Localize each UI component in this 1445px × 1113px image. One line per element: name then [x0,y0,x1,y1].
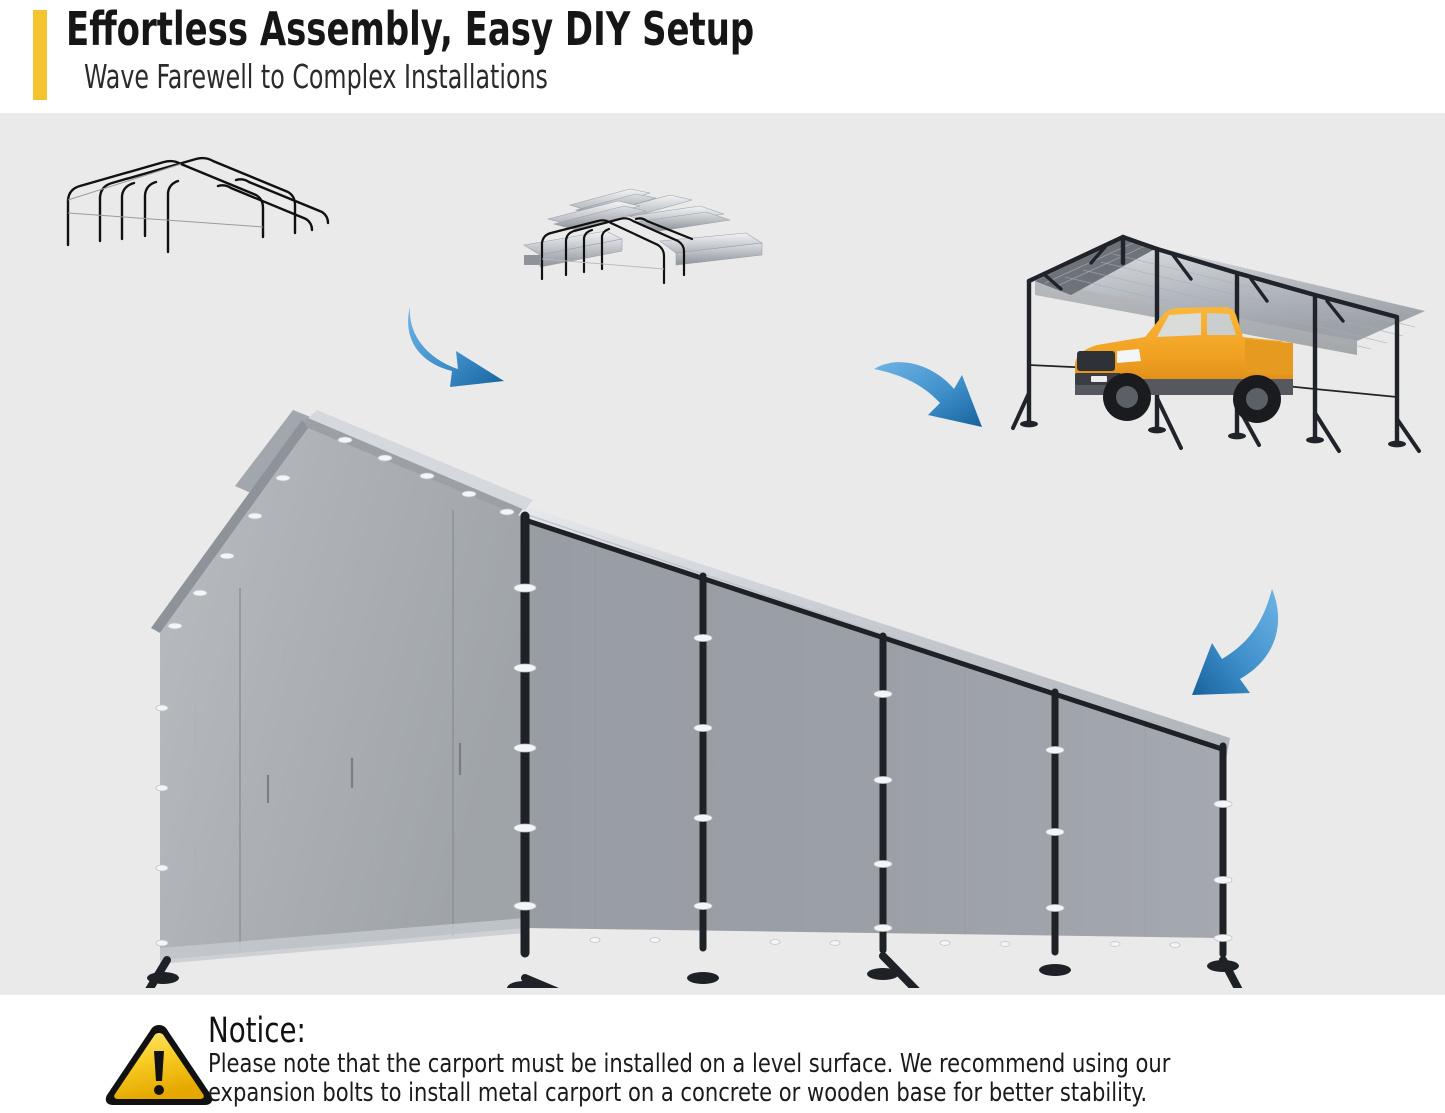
step-1-frame-illustration [60,153,340,263]
notice-body: Please note that the carport must be ins… [208,1050,1315,1108]
warning-triangle-icon [100,1020,218,1108]
step-2-roof-panels-illustration [510,183,830,293]
hero-product-illustration [55,288,1255,988]
notice-title: Notice: [208,1013,306,1050]
header: Effortless Assembly, Easy DIY Setup Wave… [0,0,1445,113]
accent-bar [33,10,47,100]
page-subtitle: Wave Farewell to Complex Installations [84,58,804,96]
page-title: Effortless Assembly, Easy DIY Setup [66,4,886,54]
infographic-page: Effortless Assembly, Easy DIY Setup Wave… [0,0,1445,1113]
notice-section: Notice: Please note that the carport mus… [0,995,1445,1113]
notice-line-1: Please note that the carport must be ins… [208,1050,1315,1079]
notice-line-2: expansion bolts to install metal carport… [208,1079,1315,1108]
illustration-panel [0,113,1445,995]
